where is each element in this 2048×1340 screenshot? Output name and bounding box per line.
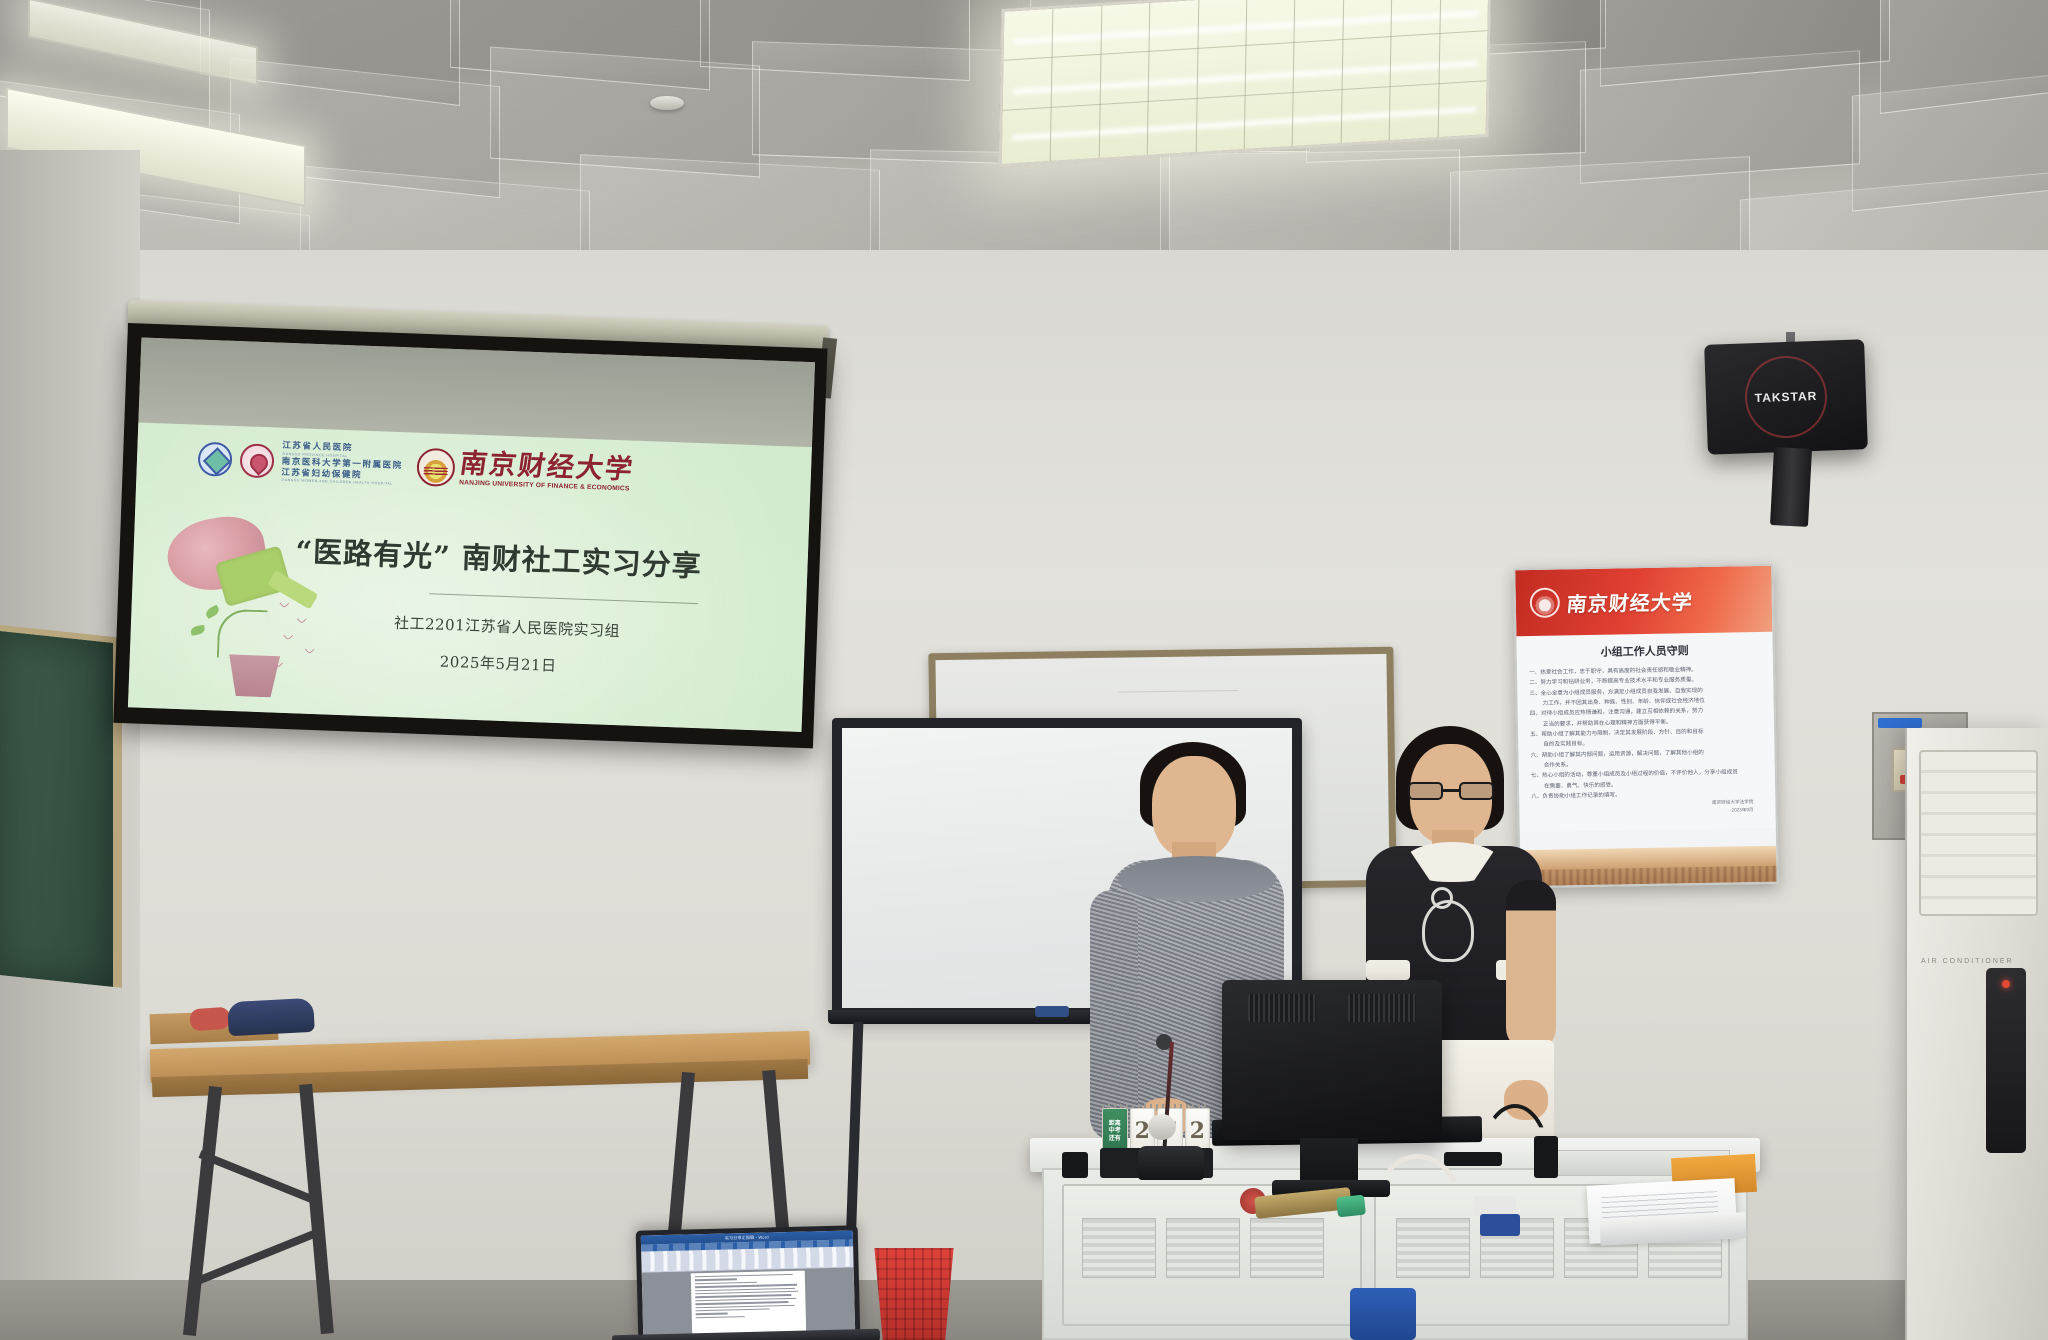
hospital-name-block: 江苏省人民医院 JIANGSU PROVINCE HOSPITAL 南京医科大学… (281, 442, 404, 487)
ac-air-grille (1919, 750, 2038, 916)
white-dongle (1474, 1196, 1516, 1216)
presenter-right-arm (1506, 880, 1556, 1050)
illustration-heart-icon (283, 631, 293, 641)
cable-clip (1444, 1152, 1502, 1166)
poster-university-name: 南京财经大学 (1566, 586, 1695, 617)
handheld-mic-tip (1336, 1195, 1366, 1218)
illustration-leaf (190, 625, 205, 636)
green-chalkboard (0, 625, 122, 988)
red-item-on-table (189, 1007, 230, 1032)
word-document-title: 实习分享汇报稿 - Word (725, 1234, 769, 1241)
countdown-label-line-2: 中考 (1109, 1127, 1121, 1135)
poster-university-emblem-icon (1530, 587, 1561, 618)
bin-mesh-pattern (868, 1248, 960, 1340)
wall-speaker: TAKSTAR (1704, 339, 1868, 455)
poster-title: 小组工作人员守则 (1529, 641, 1761, 661)
classroom-photo-scene: 江苏省人民医院 JIANGSU PROVINCE HOSPITAL 南京医科大学… (0, 0, 2048, 1340)
hospital-emblem-blue-icon (197, 442, 232, 477)
university-logo-block: 南京财经大学 NANJING UNIVERSITY OF FINANCE & E… (416, 448, 634, 494)
desktop-monitor[interactable] (1222, 980, 1442, 1140)
blue-dongle (1480, 1214, 1520, 1236)
hospital-emblem-red-icon (239, 444, 274, 479)
wall-box-label (1878, 718, 1922, 728)
backpack-on-table (227, 998, 315, 1036)
whiteboard-marker (1035, 1006, 1069, 1017)
podium-vent (1082, 1218, 1156, 1278)
ac-brand-label: AIR CONDITIONER (1921, 958, 2014, 965)
ceiling-tile (752, 41, 1032, 165)
presenter-right-shirt-print (1422, 900, 1474, 962)
gooseneck-mic-collar (1148, 1114, 1176, 1140)
floor-air-conditioner[interactable]: AIR CONDITIONER (1905, 728, 2048, 1340)
poster-body: 小组工作人员守则 一、热爱社会工作，忠于职守，具有高度的社会责任感和敬业精神。 … (1516, 632, 1775, 832)
wall-poster: 南京财经大学 小组工作人员守则 一、热爱社会工作，忠于职守，具有高度的社会责任感… (1513, 564, 1779, 888)
speaker-brand: TAKSTAR (1755, 389, 1818, 405)
podium-vent (1396, 1218, 1470, 1278)
waste-bin (868, 1248, 960, 1340)
university-emblem-icon (416, 448, 455, 487)
screen-surface: 江苏省人民医院 JIANGSU PROVINCE HOSPITAL 南京医科大学… (128, 338, 815, 732)
projection-screen: 江苏省人民医院 JIANGSU PROVINCE HOSPITAL 南京医科大学… (113, 323, 827, 748)
monitor-stand (1300, 1138, 1358, 1186)
monitor-vent (1248, 994, 1316, 1022)
laptop-screen: 实习分享汇报稿 - Word (641, 1230, 855, 1337)
university-name-cn: 南京财经大学 (458, 451, 636, 483)
illustration-stem (217, 609, 268, 660)
ac-power-led-icon (2002, 980, 2010, 988)
small-black-adapter (1062, 1152, 1088, 1178)
podium-vent (1250, 1218, 1324, 1278)
word-document-sheet[interactable] (690, 1271, 806, 1337)
presenter-right-sleeve-cuff-left (1366, 960, 1410, 980)
illustration-leaf (204, 604, 221, 619)
countdown-label-line-3: 还有 (1109, 1135, 1121, 1143)
gooseneck-mic-base[interactable] (1138, 1146, 1204, 1180)
illustration-heart-icon (280, 599, 290, 609)
word-page-area (642, 1267, 856, 1337)
presenter-right-glasses-icon (1408, 782, 1494, 800)
whiteboard-stroke (1118, 690, 1238, 693)
smoke-detector (650, 96, 684, 110)
black-connector (1534, 1136, 1558, 1178)
ac-control-panel[interactable] (1986, 968, 2026, 1153)
university-name-block: 南京财经大学 NANJING UNIVERSITY OF FINANCE & E… (459, 451, 634, 492)
laptop[interactable]: 实习分享汇报稿 - Word (636, 1225, 861, 1340)
speaker-bracket (1770, 447, 1812, 527)
presenter-left-hood (1118, 856, 1276, 902)
illustration-heart-icon (305, 645, 315, 655)
monitor-vent (1348, 994, 1416, 1022)
ceiling-tile (1160, 149, 1460, 258)
presentation-slide: 江苏省人民医院 JIANGSU PROVINCE HOSPITAL 南京医科大学… (128, 423, 812, 732)
blue-floor-equipment (1350, 1288, 1416, 1340)
illustration-heart-icon (297, 614, 307, 624)
poster-header: 南京财经大学 (1515, 566, 1772, 636)
presenter-left-arm (1090, 890, 1138, 1140)
poster-footer-image (1520, 846, 1777, 886)
podium-vent (1166, 1218, 1240, 1278)
